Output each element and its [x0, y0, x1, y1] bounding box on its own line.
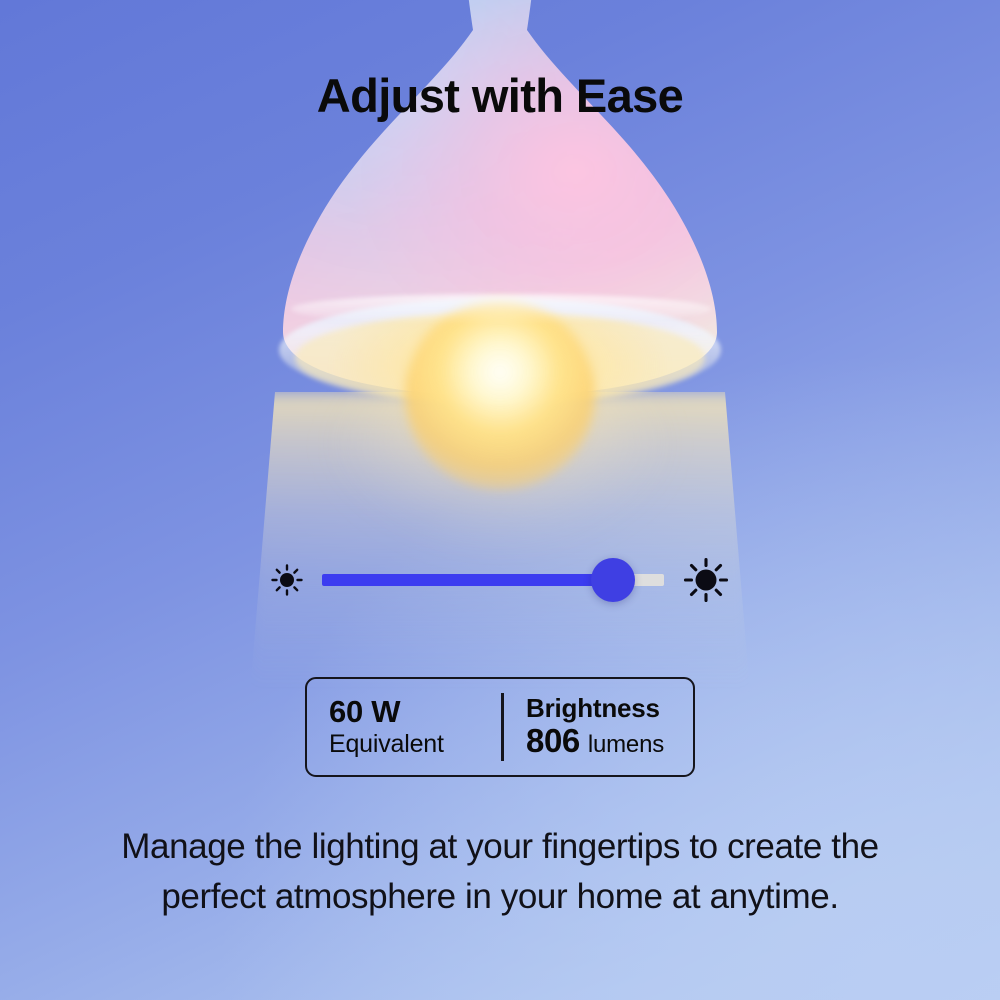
specs-box: 60 W Equivalent Brightness 806 lumens [305, 677, 695, 777]
bulb-rim-highlight [291, 294, 711, 324]
bulb-glow-source [405, 300, 595, 490]
bulb-rim [279, 298, 721, 402]
brightness-label: Brightness [526, 694, 693, 723]
brightness-cell: Brightness 806 lumens [504, 679, 693, 775]
brightness-unit: lumens [588, 731, 664, 758]
bulb-inner-opening [295, 312, 705, 404]
wattage-cell: 60 W Equivalent [307, 679, 501, 775]
bulb-shade [265, 0, 735, 400]
promo-card: Adjust with Ease [0, 0, 1000, 1000]
slider-fill [322, 574, 613, 586]
smart-light-bulb-icon [265, 0, 735, 420]
brightness-slider-row[interactable] [270, 552, 730, 608]
wattage-value: 60 W [329, 695, 501, 728]
caption-text: Manage the lighting at your fingertips t… [80, 822, 920, 921]
beam-cone [250, 392, 750, 692]
slider-thumb[interactable] [591, 558, 635, 602]
sun-large-icon[interactable] [682, 556, 730, 604]
page-title: Adjust with Ease [0, 68, 1000, 123]
sun-small-icon[interactable] [270, 563, 304, 597]
wattage-label: Equivalent [329, 729, 501, 759]
brightness-slider-control[interactable] [322, 567, 664, 593]
brightness-value: 806 [526, 722, 580, 760]
brightness-value-row: 806 lumens [526, 722, 693, 760]
